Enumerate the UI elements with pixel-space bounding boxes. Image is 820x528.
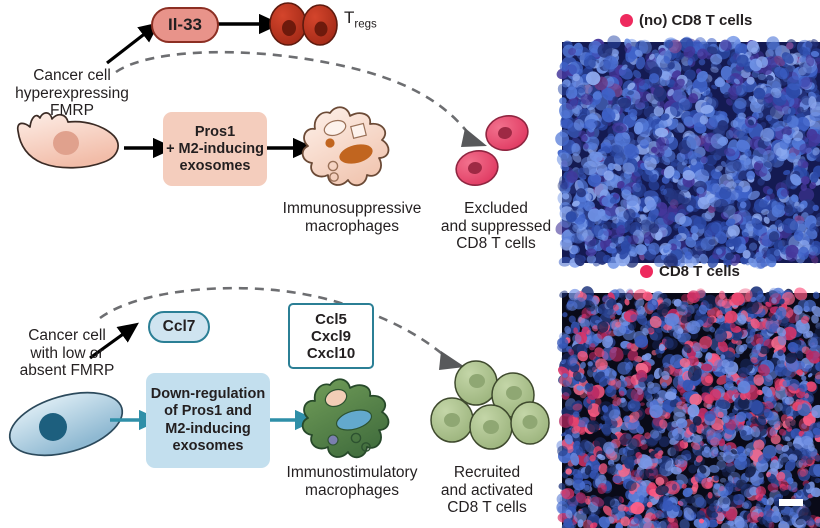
cd8-marker-dot-icon xyxy=(620,14,633,27)
cancer-cell-low-fmrp-label: Cancer cell with low or absent FMRP xyxy=(2,327,132,380)
tregs-label-subscript: regs xyxy=(354,18,376,30)
pros1-process-box[interactable]: Pros1 + M2-inducing exosomes xyxy=(163,112,267,186)
tregs-label: Tregs xyxy=(344,8,377,30)
cancer-cell-hyperexpressing-fmrp xyxy=(18,113,118,168)
downregulation-process-box-label: Down-regulation of Pros1 and M2-inducing… xyxy=(151,386,265,456)
downregulation-process-box[interactable]: Down-regulation of Pros1 and M2-inducing… xyxy=(146,373,270,468)
ccl7-pill[interactable]: Ccl7 xyxy=(148,311,210,343)
micrograph-top-caption-text: (no) CD8 T cells xyxy=(639,12,752,29)
immunostimulatory-macrophage-illustration xyxy=(303,379,389,457)
dashed-arrowhead-top xyxy=(461,128,487,147)
pros1-process-box-label: Pros1 + M2-inducing exosomes xyxy=(166,124,264,175)
treg-cells-illustration xyxy=(270,3,337,45)
excluded-cd8-tcells-illustration xyxy=(453,112,531,189)
scale-bar xyxy=(779,499,803,506)
excluded-cd8-tcells-label: Excluded and suppressed CD8 T cells xyxy=(434,200,558,253)
il33-pill-label: Il-33 xyxy=(168,15,202,35)
cd8-marker-dot-icon xyxy=(640,265,653,278)
figure-canvas: Il-33 Tregs Cancer cell hyperexpressing … xyxy=(0,0,820,528)
tregs-label-main: T xyxy=(344,8,354,27)
il33-pill[interactable]: Il-33 xyxy=(151,7,219,43)
micrograph-bottom-caption-text: CD8 T cells xyxy=(659,263,740,280)
immunosuppressive-macrophage-illustration xyxy=(303,107,389,185)
arrow-to-il33 xyxy=(107,32,147,63)
micrograph-top-caption: (no) CD8 T cells xyxy=(620,12,752,29)
immunosuppressive-macrophages-label: Immunosuppressive macrophages xyxy=(276,200,428,235)
recruited-cd8-tcells-illustration xyxy=(431,361,549,449)
immunostimulatory-macrophages-label: Immunostimulatory macrophages xyxy=(272,464,432,499)
cancer-cell-hyperexpressing-fmrp-label: Cancer cell hyperexpressing FMRP xyxy=(4,67,140,120)
ccl7-pill-label: Ccl7 xyxy=(163,318,196,336)
micrograph-bottom-caption: CD8 T cells xyxy=(640,263,740,280)
chemokine-box-label: Ccl5 Cxcl9 Cxcl10 xyxy=(307,311,355,362)
cancer-cell-low-fmrp xyxy=(3,381,130,467)
micrograph-bottom-texture xyxy=(554,285,820,528)
chemokine-box[interactable]: Ccl5 Cxcl9 Cxcl10 xyxy=(288,303,374,369)
micrograph-top-texture xyxy=(553,33,820,272)
recruited-cd8-tcells-label: Recruited and activated CD8 T cells xyxy=(424,464,550,517)
